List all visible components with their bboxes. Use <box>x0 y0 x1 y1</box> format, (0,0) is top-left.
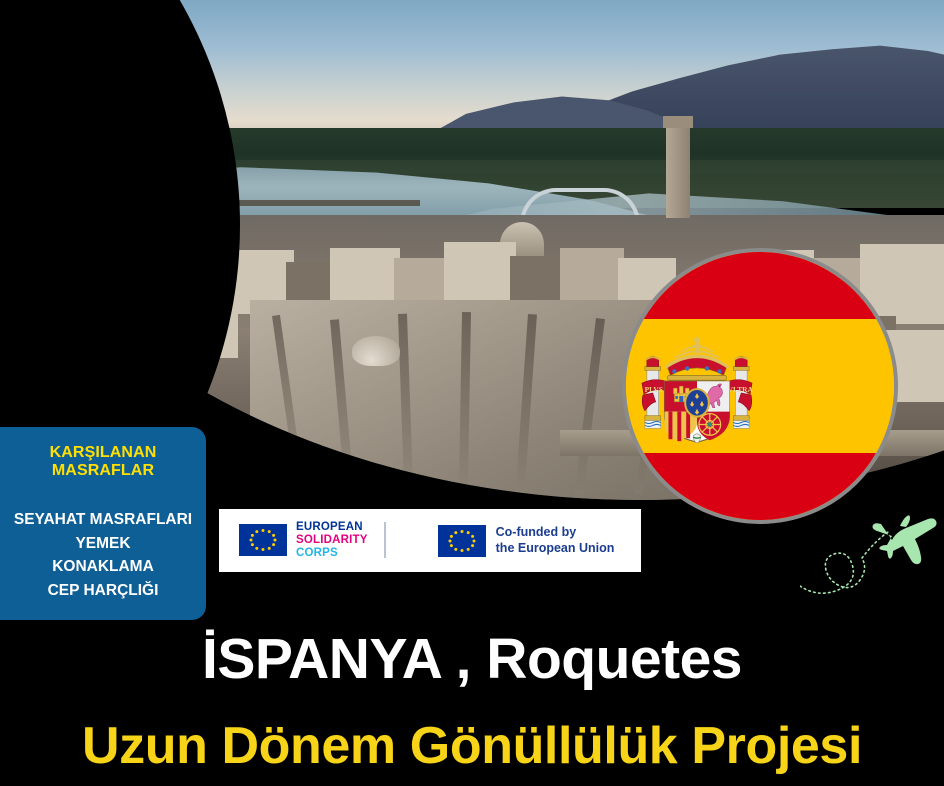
svg-text:VLTRA: VLTRA <box>728 385 754 394</box>
eu-stars <box>239 524 287 556</box>
eu-flag-icon <box>239 524 287 556</box>
eu-flag-icon <box>438 525 486 557</box>
dotted-heart-trail <box>800 532 888 593</box>
church-bell-tower <box>666 126 690 218</box>
airplane-decoration <box>800 488 944 604</box>
logo-divider <box>384 522 386 558</box>
covered-costs-title: KARŞILANAN MASRAFLAR <box>0 444 206 479</box>
cofunded-wordmark: Co-funded by the European Union <box>496 525 615 557</box>
page-subtitle: Uzun Dönem Gönüllülük Projesi <box>0 716 944 776</box>
european-solidarity-corps-logo: EUROPEAN SOLIDARITY CORPS <box>239 521 386 561</box>
co-funded-by-eu-logo: Co-funded by the European Union <box>438 525 615 557</box>
covered-costs-list: SEYAHAT MASRAFLARI YEMEK KONAKLAMA CEP H… <box>0 508 206 602</box>
list-item: SEYAHAT MASRAFLARI <box>0 508 206 532</box>
list-item: KONAKLAMA <box>0 555 206 579</box>
esc-line-1: EUROPEAN <box>296 521 368 534</box>
svg-text:PLVS: PLVS <box>645 385 663 394</box>
airplane-icon <box>873 515 937 564</box>
flag-stripe-red-top <box>626 252 894 319</box>
list-item: YEMEK <box>0 532 206 556</box>
eu-stars <box>438 525 486 557</box>
esc-line-3: CORPS <box>296 547 368 560</box>
spanish-coat-of-arms-icon: PLVS VLTRA <box>638 334 756 452</box>
poster-canvas: PLVS VLTRA <box>0 0 944 786</box>
esc-line-2: SOLIDARITY <box>296 534 368 547</box>
esc-wordmark: EUROPEAN SOLIDARITY CORPS <box>296 521 368 561</box>
cofunded-line-1: Co-funded by <box>496 525 615 541</box>
eu-logos-bar: EUROPEAN SOLIDARITY CORPS <box>219 509 641 572</box>
cofunded-line-2: the European Union <box>496 541 615 557</box>
spain-flag-badge: PLVS VLTRA <box>622 248 898 524</box>
covered-costs-box: KARŞILANAN MASRAFLAR SEYAHAT MASRAFLARI … <box>0 427 206 620</box>
page-title: İSPANYA , Roquetes <box>0 626 944 692</box>
cathedral-dome <box>352 336 400 366</box>
list-item: CEP HARÇLIĞI <box>0 579 206 603</box>
